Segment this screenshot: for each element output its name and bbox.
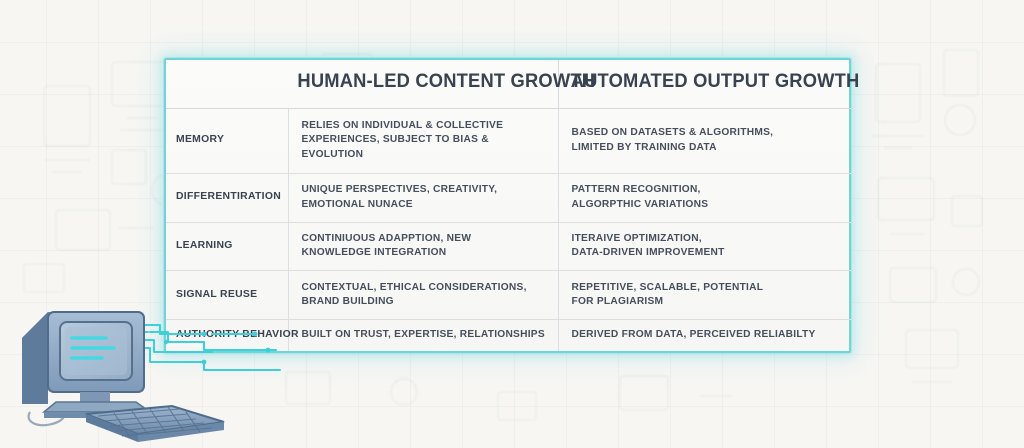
row-label-memory: MEMORY xyxy=(166,108,288,173)
table-row: DIFFERENTIRATION UNIQUE PERSPECTIVES, CR… xyxy=(166,173,853,222)
cell-automated-signal-reuse: REPETITIVE, SCALABLE, POTENTIAL FOR PLAG… xyxy=(558,271,853,320)
header-blank xyxy=(166,60,281,108)
row-label-learning: LEARNING xyxy=(166,222,288,271)
row-label-differentiration: DIFFERENTIRATION xyxy=(166,173,288,222)
header-automated: AUTOMATED OUTPUT GROWTH xyxy=(558,60,835,108)
cell-human-authority-behavior: BUILT ON TRUST, EXPERTISE, RELATIONSHIPS xyxy=(288,319,558,351)
cell-automated-memory: BASED ON DATASETS & ALGORITHMS, LIMITED … xyxy=(558,108,853,173)
table-row: LEARNING CONTINIUOUS ADAPPTION, NEW KNOW… xyxy=(166,222,853,271)
cell-human-memory: RELIES ON INDIVIDUAL & COLLECTIVE EXPERI… xyxy=(288,108,558,173)
infographic-canvas: HUMAN-LED CONTENT GROWTH AUTOMATED OUTPU… xyxy=(0,0,1024,448)
header-human-led: HUMAN-LED CONTENT GROWTH xyxy=(288,60,542,108)
comparison-table: HUMAN-LED CONTENT GROWTH AUTOMATED OUTPU… xyxy=(166,60,853,351)
cell-human-differentiration: UNIQUE PERSPECTIVES, CREATIVITY, EMOTION… xyxy=(288,173,558,222)
table-body: MEMORY RELIES ON INDIVIDUAL & COLLECTIVE… xyxy=(166,108,853,351)
table-row: SIGNAL REUSE CONTEXTUAL, ETHICAL CONSIDE… xyxy=(166,271,853,320)
table-header: HUMAN-LED CONTENT GROWTH AUTOMATED OUTPU… xyxy=(166,60,853,108)
comparison-card: HUMAN-LED CONTENT GROWTH AUTOMATED OUTPU… xyxy=(164,58,851,353)
table-row: MEMORY RELIES ON INDIVIDUAL & COLLECTIVE… xyxy=(166,108,853,173)
cell-automated-learning: ITERAIVE OPTIMIZATION, DATA-DRIVEN IMPRO… xyxy=(558,222,853,271)
retro-computer-icon xyxy=(18,292,228,444)
cell-automated-differentiration: PATTERN RECOGNITION, ALGORPTHIC VARIATIO… xyxy=(558,173,853,222)
cell-human-signal-reuse: CONTEXTUAL, ETHICAL CONSIDERATIONS, BRAN… xyxy=(288,271,558,320)
cell-automated-authority-behavior: DERIVED FROM DATA, PERCEIVED RELIABILTY xyxy=(558,319,853,351)
header-row: HUMAN-LED CONTENT GROWTH AUTOMATED OUTPU… xyxy=(166,60,853,108)
cell-human-learning: CONTINIUOUS ADAPPTION, NEW KNOWLEDGE INT… xyxy=(288,222,558,271)
